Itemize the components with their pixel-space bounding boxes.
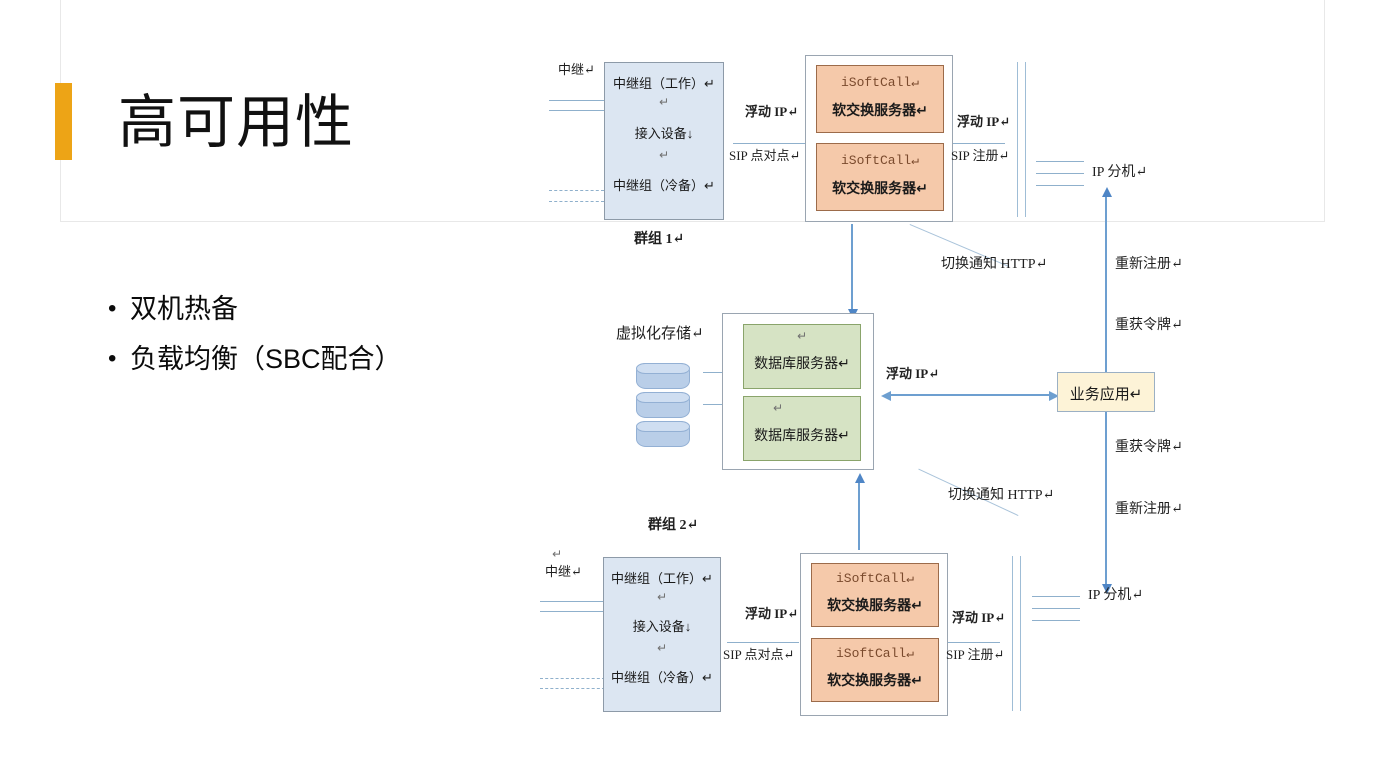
storage-to-app-arrow — [890, 394, 1050, 396]
group2-softswitch-name-1: iSoftCall↵ — [812, 571, 938, 586]
group2-trunk-line-work-1 — [540, 601, 605, 602]
group1-trunk-line-standby-2 — [549, 201, 604, 202]
group2-ip-phone-line-2 — [1032, 608, 1080, 609]
title-accent-bar — [55, 83, 72, 160]
group2-sip-p2p-line — [727, 642, 799, 643]
database-name-1: 数据库服务器↵ — [744, 353, 860, 373]
group1-float-ip-left: 浮动 IP↵ — [745, 104, 798, 120]
storage-disk-3 — [636, 421, 690, 447]
group2-float-ip-left: 浮动 IP↵ — [745, 606, 798, 622]
group2-softswitch-name-2: iSoftCall↵ — [812, 646, 938, 661]
group1-pilcrow-2: ↵ — [605, 148, 723, 162]
page-title: 高可用性 — [118, 80, 354, 166]
app-to-ipphone-bottom-arrow — [1105, 412, 1107, 585]
group2-trunk-label: 中继↵ — [545, 564, 582, 580]
bullet-text: 双机热备 — [130, 284, 238, 334]
group1-softswitch-role-1: 软交换服务器↵ — [817, 100, 943, 120]
group2-network-line-2 — [1020, 556, 1021, 711]
bullet-marker-icon: • — [108, 284, 130, 334]
group1-ip-phone-label: IP 分机↵ — [1092, 165, 1147, 181]
group1-softswitch-name-2: iSoftCall↵ — [817, 153, 943, 168]
group1-label: 群组 1↵ — [634, 232, 684, 248]
group1-switch-notify-label: 切换通知 HTTP↵ — [941, 257, 1047, 273]
group1-access-box: 中继组（工作）↵ ↵ 接入设备↓ ↵ 中继组（冷备）↵ — [604, 62, 724, 220]
group2-trunk-line-standby-2 — [540, 688, 605, 689]
database-name-2: 数据库服务器↵ — [744, 425, 860, 445]
group2-softswitch-node-2: iSoftCall↵ 软交换服务器↵ — [811, 638, 939, 702]
group2-sip-p2p-label: SIP 点对点↵ — [723, 647, 794, 663]
app-to-ipphone-top-arrow — [1105, 196, 1107, 372]
retoken-label-bottom: 重获令牌↵ — [1115, 440, 1183, 456]
group1-trunk-group-working: 中继组（工作）↵ — [605, 73, 723, 92]
group1-trunk-group-standby: 中继组（冷备）↵ — [605, 175, 723, 194]
group2-pilcrow-1: ↵ — [604, 590, 720, 604]
group2-access-device: 接入设备↓ — [604, 616, 720, 635]
application-box: 业务应用↵ — [1057, 372, 1155, 412]
group1-softswitch-name-1: iSoftCall↵ — [817, 75, 943, 90]
group1-network-line-1 — [1017, 62, 1018, 217]
group2-float-ip-right: 浮动 IP↵ — [952, 610, 1005, 626]
group2-switch-notify-label: 切换通知 HTTP↵ — [948, 488, 1054, 504]
bullet-marker-icon: • — [108, 334, 130, 384]
group1-sip-reg-label: SIP 注册↵ — [951, 148, 1009, 164]
database-pilcrow-2: ↵ — [696, 401, 860, 415]
group2-ip-phone-label: IP 分机↵ — [1088, 588, 1143, 604]
group2-softswitch-role-1: 软交换服务器↵ — [812, 595, 938, 615]
group2-softswitch-node-1: iSoftCall↵ 软交换服务器↵ — [811, 563, 939, 627]
group2-pilcrow-2: ↵ — [604, 641, 720, 655]
group2-to-storage-arrow — [858, 482, 860, 550]
group1-ip-phone-line-2 — [1036, 173, 1084, 174]
group1-float-ip-right: 浮动 IP↵ — [957, 114, 1010, 130]
group2-trunk-pilcrow: ↵ — [552, 546, 562, 562]
group1-softswitch-node-1: iSoftCall↵ 软交换服务器↵ — [816, 65, 944, 133]
reregister-label-bottom: 重新注册↵ — [1115, 502, 1183, 518]
group1-softswitch-node-2: iSoftCall↵ 软交换服务器↵ — [816, 143, 944, 211]
group2-trunk-group-standby: 中继组（冷备）↵ — [604, 667, 720, 686]
retoken-label-top: 重获令牌↵ — [1115, 318, 1183, 334]
group2-softswitch-role-2: 软交换服务器↵ — [812, 670, 938, 690]
group1-to-storage-arrow — [851, 224, 853, 310]
database-container: ↵ 数据库服务器↵ ↵ 数据库服务器↵ — [722, 313, 874, 470]
group1-softswitch-role-2: 软交换服务器↵ — [817, 178, 943, 198]
group1-sip-reg-line — [953, 143, 1005, 144]
group1-trunk-line-work-2 — [549, 110, 604, 111]
storage-disk-1 — [636, 363, 690, 389]
storage-float-ip-label: 浮动 IP↵ — [886, 366, 939, 382]
group1-trunk-line-standby-1 — [549, 190, 604, 191]
list-item: • 双机热备 — [108, 284, 528, 334]
database-node-2: ↵ 数据库服务器↵ — [743, 396, 861, 461]
storage-disk-2 — [636, 392, 690, 418]
group2-ip-phone-line-3 — [1032, 620, 1080, 621]
group2-trunk-line-work-2 — [540, 611, 605, 612]
slide-canvas: 高可用性 • 双机热备 • 负载均衡（SBC配合） 中继↵ 中继组（工作）↵ ↵… — [0, 0, 1377, 773]
group1-ip-phone-line-3 — [1036, 185, 1084, 186]
database-pilcrow-1: ↵ — [744, 329, 860, 343]
group1-access-device: 接入设备↓ — [605, 123, 723, 142]
group1-ip-phone-line-1 — [1036, 161, 1084, 162]
storage-label: 虚拟化存储↵ — [616, 326, 704, 342]
group1-trunk-line-work-1 — [549, 100, 604, 101]
group2-trunk-line-standby-1 — [540, 678, 605, 679]
group1-sip-p2p-line — [733, 143, 805, 144]
group2-label: 群组 2↵ — [648, 518, 698, 534]
group1-network-line-2 — [1025, 62, 1026, 217]
application-label: 业务应用↵ — [1058, 383, 1154, 404]
bullet-text: 负载均衡（SBC配合） — [130, 334, 402, 384]
group2-access-box: 中继组（工作）↵ ↵ 接入设备↓ ↵ 中继组（冷备）↵ — [603, 557, 721, 712]
list-item: • 负载均衡（SBC配合） — [108, 334, 528, 384]
group2-sip-reg-line — [948, 642, 1000, 643]
group2-sip-reg-label: SIP 注册↵ — [946, 647, 1004, 663]
group1-pilcrow-1: ↵ — [605, 95, 723, 109]
group2-ip-phone-line-1 — [1032, 596, 1080, 597]
group2-softswitch-container: iSoftCall↵ 软交换服务器↵ iSoftCall↵ 软交换服务器↵ — [800, 553, 948, 716]
group2-network-line-1 — [1012, 556, 1013, 711]
group1-softswitch-container: iSoftCall↵ 软交换服务器↵ iSoftCall↵ 软交换服务器↵ — [805, 55, 953, 222]
reregister-label-top: 重新注册↵ — [1115, 257, 1183, 273]
database-node-1: ↵ 数据库服务器↵ — [743, 324, 861, 389]
group2-trunk-group-working: 中继组（工作）↵ — [604, 568, 720, 587]
bullet-list: • 双机热备 • 负载均衡（SBC配合） — [108, 284, 528, 384]
group1-trunk-label: 中继↵ — [558, 62, 595, 78]
group1-sip-p2p-label: SIP 点对点↵ — [729, 148, 800, 164]
